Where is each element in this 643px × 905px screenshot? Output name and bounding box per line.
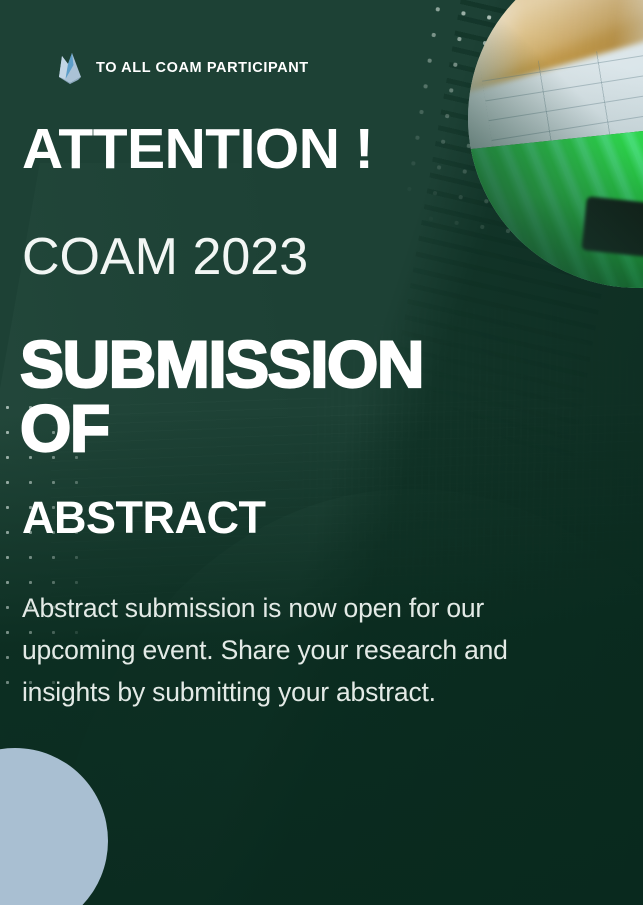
headline-main: SUBMISSION OF <box>20 332 423 460</box>
headline-main-line-1: SUBMISSION <box>20 332 423 396</box>
headline-attention: ATTENTION ! <box>22 121 373 178</box>
poster-content: TO ALL COAM PARTICIPANT ATTENTION ! COAM… <box>0 0 643 905</box>
headline-subject: ABSTRACT <box>22 495 265 540</box>
headline-main-line-2: OF <box>20 396 423 460</box>
eyebrow-label: TO ALL COAM PARTICIPANT <box>96 60 309 76</box>
body-copy: Abstract submission is now open for our … <box>22 587 600 713</box>
brand-row: TO ALL COAM PARTICIPANT <box>56 52 309 84</box>
flame-logo-icon <box>56 52 84 84</box>
headline-event-name: COAM 2023 <box>22 231 308 283</box>
poster-canvas: TO ALL COAM PARTICIPANT ATTENTION ! COAM… <box>0 0 643 905</box>
